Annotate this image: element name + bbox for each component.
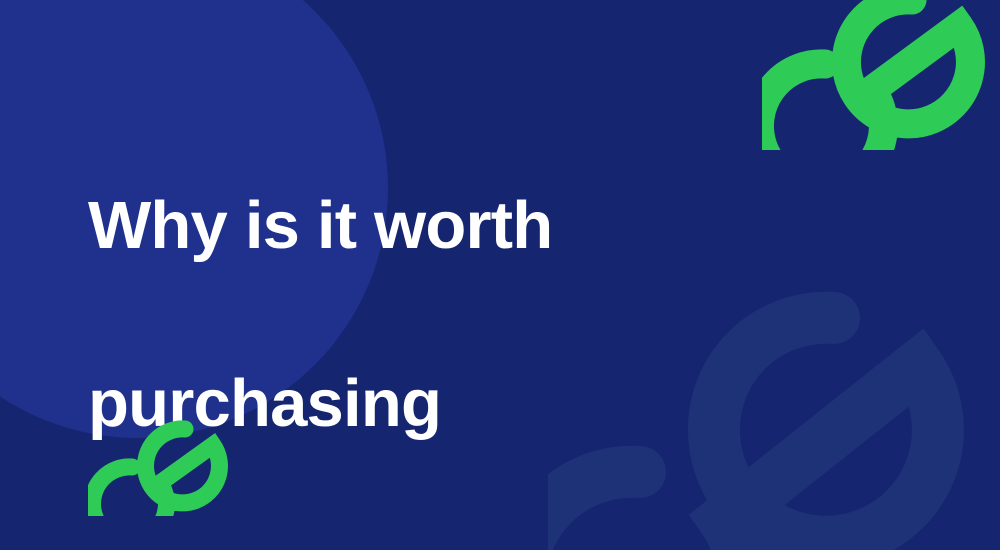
headline-accent-text: Unlimited Plan?: [204, 545, 698, 550]
infinity-logo-bottom-left-icon: [88, 408, 258, 516]
headline-line-3-prefix: the: [88, 545, 204, 550]
banner-canvas: Why is it worth purchasing the Unlimited…: [0, 0, 1000, 550]
headline-line-1: Why is it worth: [88, 181, 918, 270]
headline-line-3: the Unlimited Plan?: [88, 538, 918, 550]
